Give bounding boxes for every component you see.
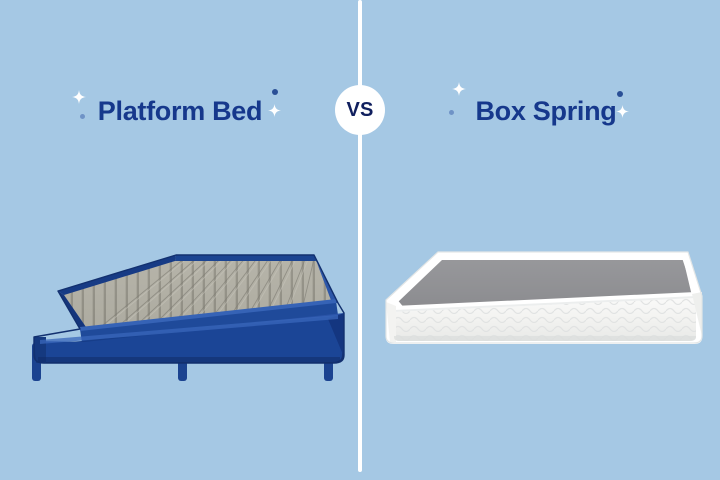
infographic-canvas: Platform Bed Box Spring VS [0, 0, 720, 480]
vs-badge: VS [335, 85, 385, 135]
page-title-box-spring: Box Spring [432, 92, 660, 130]
box-spring-illustration [378, 242, 710, 362]
vertical-divider [358, 0, 362, 472]
page-title-platform-bed: Platform Bed [60, 92, 300, 130]
platform-bed-illustration [18, 245, 354, 385]
